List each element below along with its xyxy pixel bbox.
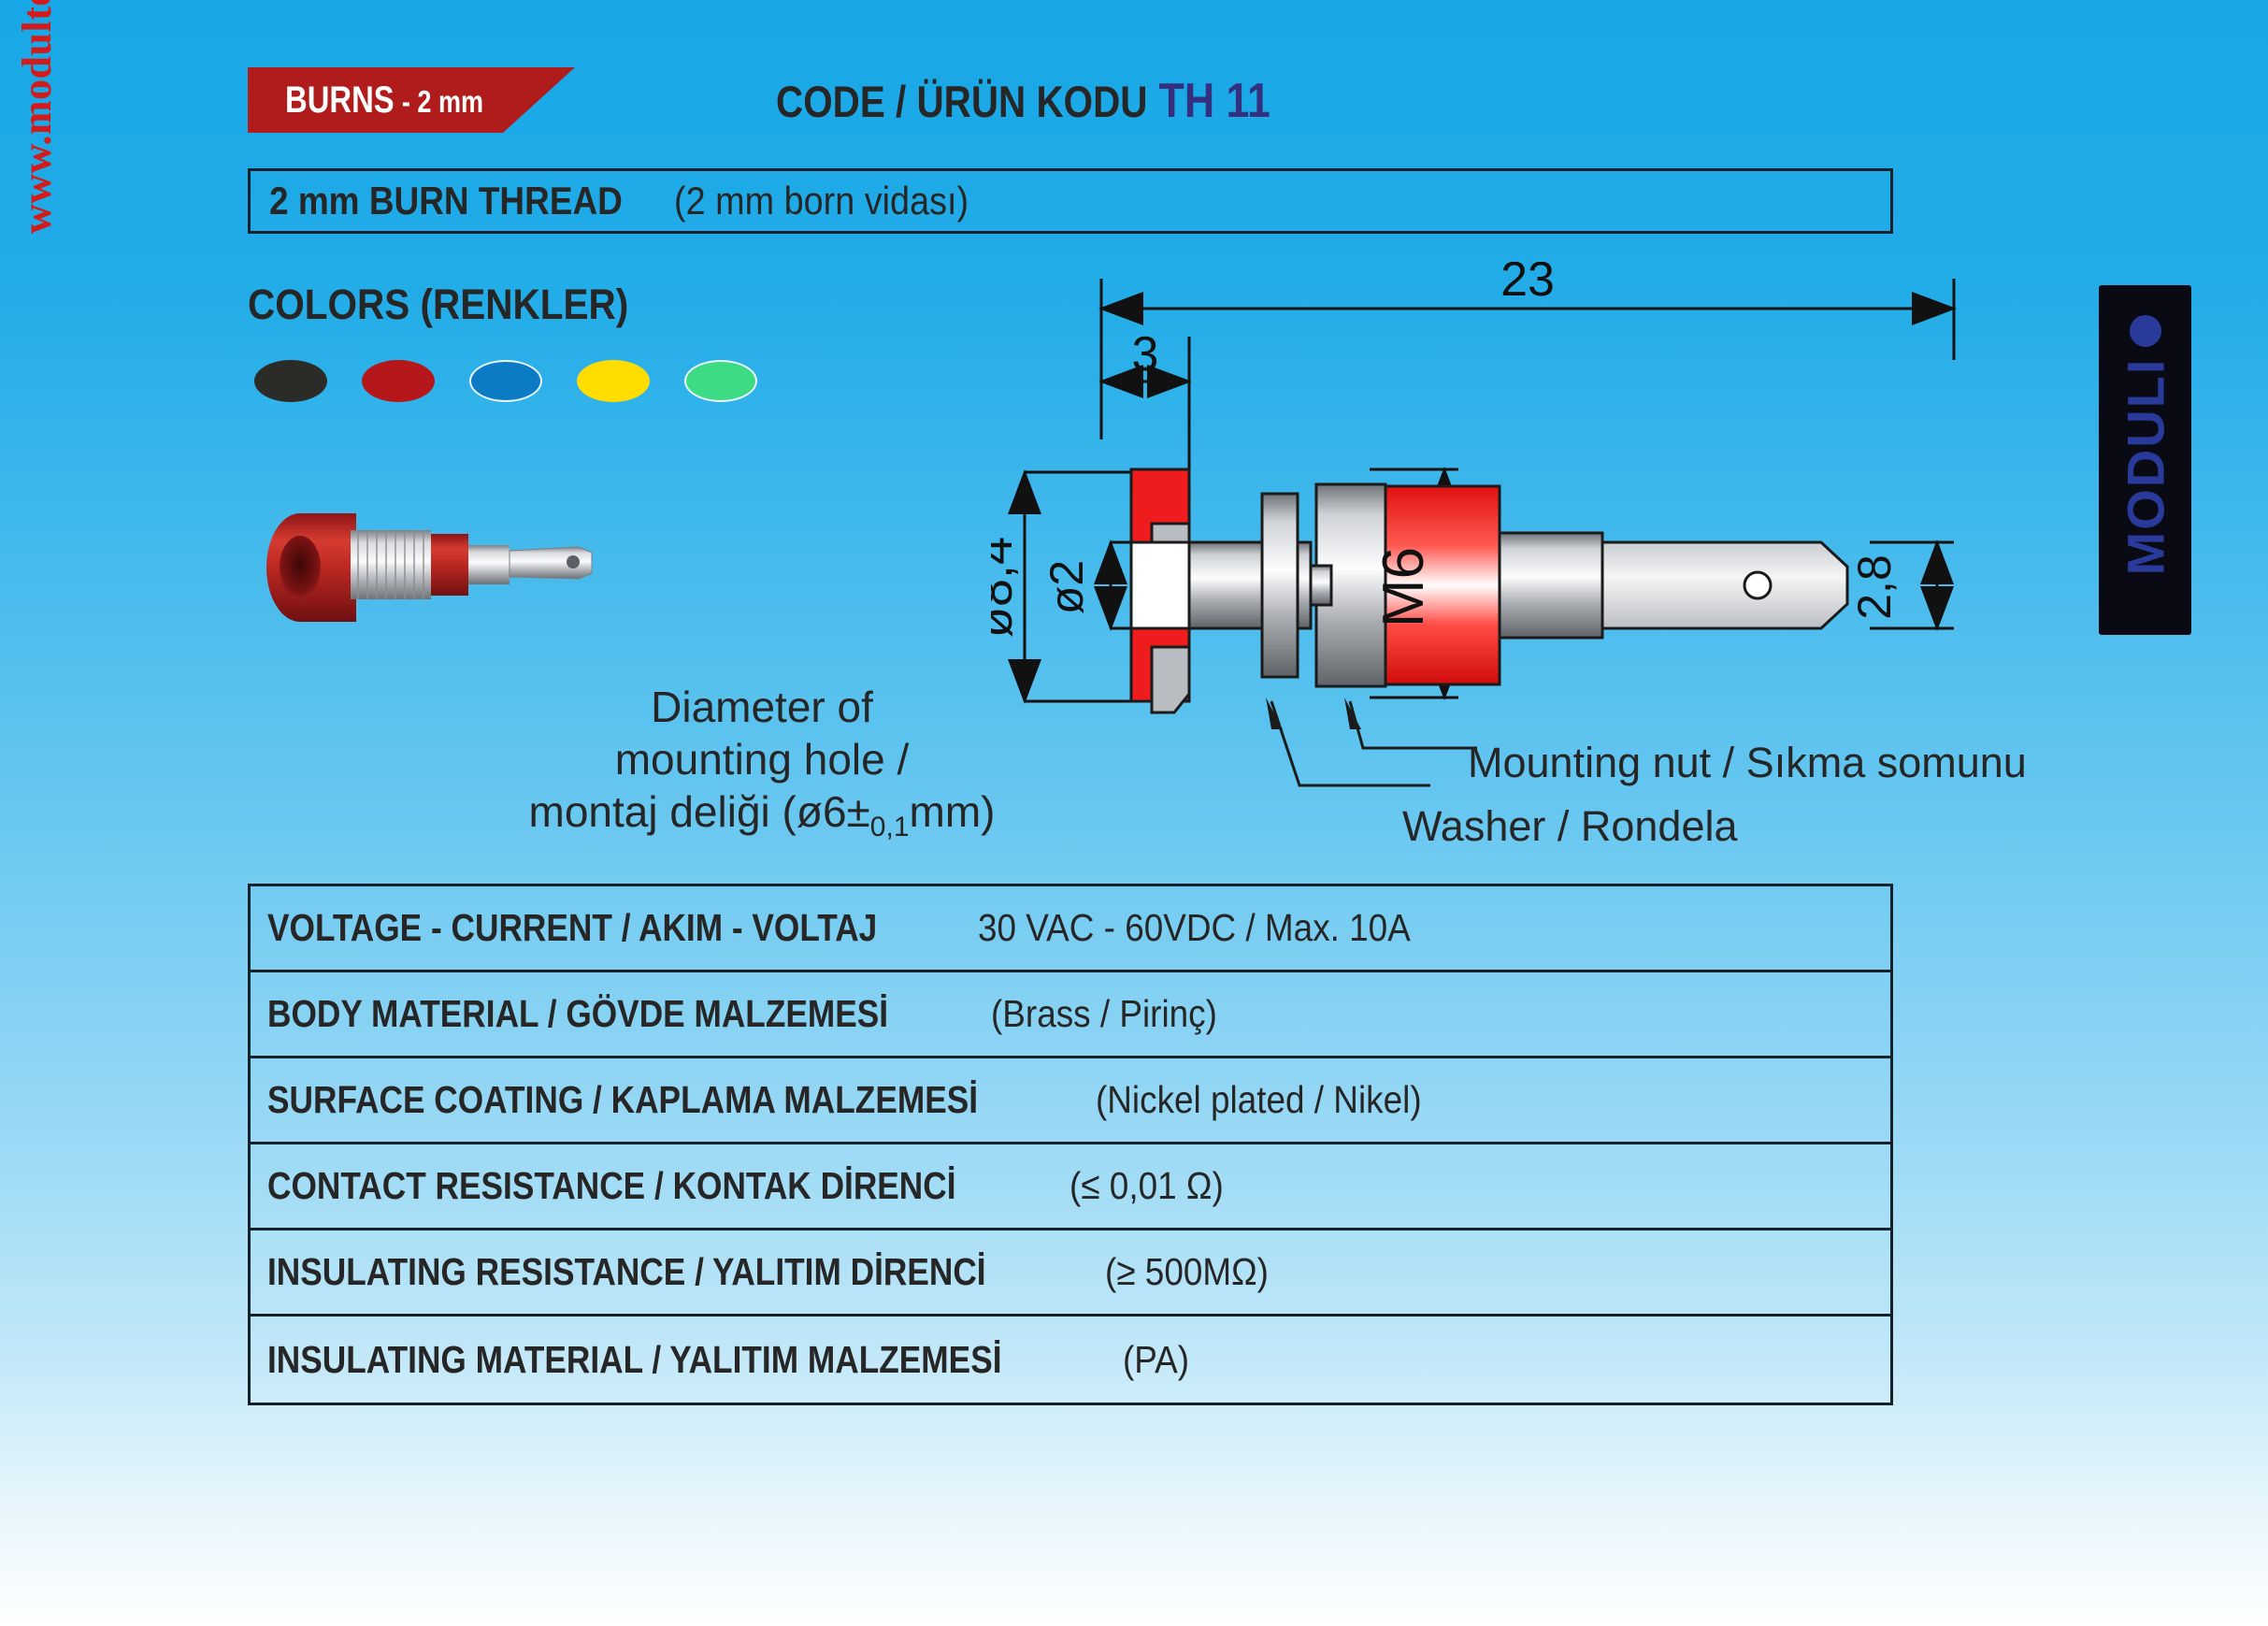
callout-washer: Washer / Rondela bbox=[1402, 802, 1738, 851]
spec-value: (Brass / Pirinç) bbox=[991, 992, 1217, 1036]
mounting-hole-caption: Diameter of mounting hole / montaj deliğ… bbox=[439, 681, 1084, 845]
code-label: CODE / ÜRÜN KODU bbox=[776, 77, 1147, 126]
dim-flange-text: 3 bbox=[1132, 327, 1159, 381]
colors-title: COLORS (RENKLER) bbox=[248, 281, 628, 329]
color-swatch-black bbox=[254, 360, 327, 402]
smiley-icon bbox=[2130, 315, 2161, 347]
thread-title: 2 mm BURN THREAD bbox=[269, 179, 623, 223]
spec-label: INSULATING MATERIAL / YALITIM MALZEMESİ bbox=[267, 1338, 1002, 1382]
ribbon-sub-label: - 2 mm bbox=[402, 84, 483, 119]
code-value: TH 11 bbox=[1159, 74, 1270, 128]
table-row: INSULATING RESISTANCE / YALITIM DİRENCİ … bbox=[251, 1230, 1890, 1317]
thread-label-text: M6 bbox=[1371, 547, 1436, 627]
dim-total-text: 23 bbox=[1500, 262, 1555, 307]
table-row: VOLTAGE - CURRENT / AKIM - VOLTAJ 30 VAC… bbox=[251, 886, 1890, 972]
product-code-line: CODE / ÜRÜN KODUTH 11 bbox=[776, 73, 1270, 129]
dim-tab-width-text: 2,8 bbox=[1848, 554, 1901, 620]
table-row: SURFACE COATING / KAPLAMA MALZEMESİ (Nic… bbox=[251, 1058, 1890, 1144]
spec-value: (Nickel plated / Nikel) bbox=[1096, 1078, 1422, 1122]
website-url: www.modulteknik.com bbox=[13, 0, 61, 234]
brand-logo: MODULI bbox=[2099, 285, 2191, 635]
dim-outer-diameter-text: ø8,4 bbox=[991, 537, 1023, 638]
caption-line-1: Diameter of bbox=[439, 681, 1084, 733]
color-swatch-red bbox=[362, 360, 435, 402]
spec-label: BODY MATERIAL / GÖVDE MALZEMESİ bbox=[267, 992, 888, 1036]
spec-value: (≤ 0,01 Ω) bbox=[1069, 1164, 1224, 1208]
spec-value: (≥ 500MΩ) bbox=[1105, 1250, 1269, 1294]
table-row: BODY MATERIAL / GÖVDE MALZEMESİ (Brass /… bbox=[251, 972, 1890, 1058]
spec-label: VOLTAGE - CURRENT / AKIM - VOLTAJ bbox=[267, 906, 877, 950]
thread-subtitle: (2 mm born vidası) bbox=[674, 179, 969, 223]
spec-value: (PA) bbox=[1123, 1338, 1189, 1382]
product-photo bbox=[257, 463, 631, 669]
caption-tolerance: 0,1 bbox=[870, 812, 910, 842]
spec-label: INSULATING RESISTANCE / YALITIM DİRENCİ bbox=[267, 1250, 986, 1294]
color-swatch-row bbox=[254, 360, 757, 402]
thread-spec-box: 2 mm BURN THREAD (2 mm born vidası) bbox=[248, 168, 1893, 234]
caption-line-3b: mm) bbox=[910, 787, 996, 836]
table-row: CONTACT RESISTANCE / KONTAK DİRENCİ (≤ 0… bbox=[251, 1144, 1890, 1230]
spec-label: CONTACT RESISTANCE / KONTAK DİRENCİ bbox=[267, 1164, 956, 1208]
ribbon-main-label: BURNS bbox=[285, 79, 395, 121]
caption-line-3: montaj deliği (ø6±0,1mm) bbox=[439, 785, 1084, 845]
spec-table: VOLTAGE - CURRENT / AKIM - VOLTAJ 30 VAC… bbox=[248, 884, 1893, 1405]
brand-logo-text: MODULI bbox=[2115, 358, 2175, 576]
burns-ribbon: BURNS- 2 mm bbox=[248, 67, 575, 133]
spec-value: 30 VAC - 60VDC / Max. 10A bbox=[978, 906, 1411, 950]
callout-mounting-nut: Mounting nut / Sıkma somunu bbox=[1468, 739, 2027, 787]
caption-line-3a: montaj deliği (ø6± bbox=[529, 787, 870, 836]
spec-label: SURFACE COATING / KAPLAMA MALZEMESİ bbox=[267, 1078, 978, 1122]
color-swatch-yellow bbox=[577, 360, 650, 402]
color-swatch-green bbox=[684, 360, 757, 402]
table-row: INSULATING MATERIAL / YALITIM MALZEMESİ … bbox=[251, 1317, 1890, 1403]
dim-inner-diameter-text: ø2 bbox=[1041, 560, 1093, 614]
color-swatch-blue bbox=[469, 360, 542, 402]
caption-line-2: mounting hole / bbox=[439, 733, 1084, 785]
